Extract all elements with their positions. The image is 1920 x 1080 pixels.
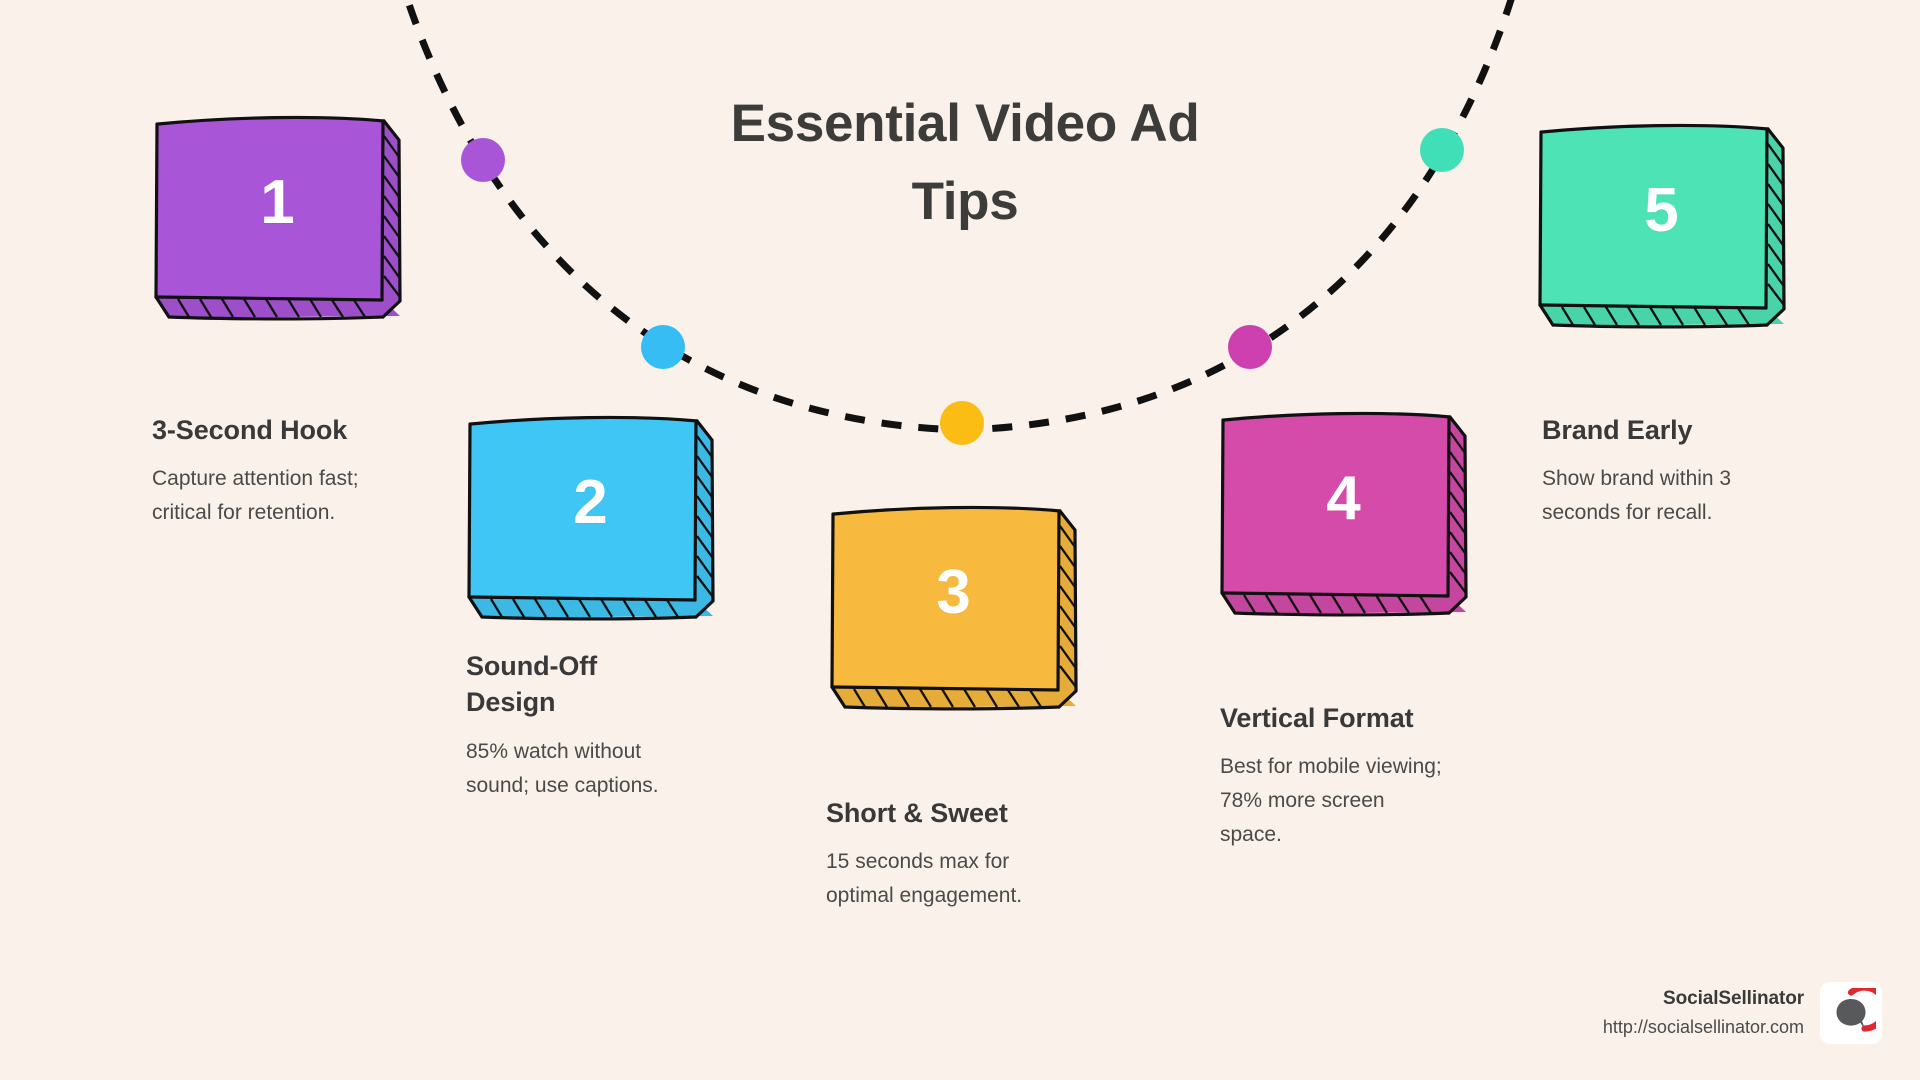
footer-text: SocialSellinator http://socialsellinator… — [1603, 985, 1804, 1041]
step-card-5[interactable]: 5 — [1534, 118, 1789, 333]
arc-dot-dot-1 — [461, 138, 505, 182]
step-text-5: Brand Early Show brand within 3 seconds … — [1542, 412, 1817, 530]
brand-url[interactable]: http://socialsellinator.com — [1603, 1014, 1804, 1041]
arc-dot-dot-2 — [641, 325, 685, 369]
step-heading-5: Brand Early — [1542, 412, 1817, 448]
footer-branding: SocialSellinator http://socialsellinator… — [1603, 982, 1882, 1044]
infographic-canvas: Essential Video Ad Tips — [0, 0, 1920, 1080]
socialsellinator-logo-icon — [1826, 988, 1876, 1038]
step-heading-4: Vertical Format — [1220, 700, 1495, 736]
page-title: Essential Video Ad Tips — [690, 85, 1240, 242]
step-heading-3: Short & Sweet — [826, 795, 1101, 831]
brand-name: SocialSellinator — [1603, 985, 1804, 1014]
step-description-2: 85% watch without sound; use captions. — [466, 735, 741, 803]
step-card-2[interactable]: 2 — [463, 410, 718, 625]
step-description-1: Capture attention fast; critical for ret… — [152, 462, 427, 530]
step-text-3: Short & Sweet 15 seconds max for optimal… — [826, 795, 1101, 913]
step-card-1[interactable]: 1 — [150, 110, 405, 325]
step-card-4[interactable]: 4 — [1216, 406, 1471, 621]
step-text-2: Sound-Off Design 85% watch without sound… — [466, 648, 741, 803]
arc-dot-dot-5 — [1420, 128, 1464, 172]
step-heading-1: 3-Second Hook — [152, 412, 427, 448]
step-number-3: 3 — [826, 562, 1081, 624]
arc-dot-dot-3 — [940, 401, 984, 445]
step-description-3: 15 seconds max for optimal engagement. — [826, 845, 1101, 913]
step-text-4: Vertical Format Best for mobile viewing;… — [1220, 700, 1495, 852]
step-number-1: 1 — [150, 172, 405, 234]
step-heading-2: Sound-Off Design — [466, 648, 741, 721]
brand-logo[interactable] — [1820, 982, 1882, 1044]
arc-dot-dot-4 — [1228, 325, 1272, 369]
step-description-4: Best for mobile viewing; 78% more screen… — [1220, 750, 1495, 852]
step-number-5: 5 — [1534, 180, 1789, 242]
step-text-1: 3-Second Hook Capture attention fast; cr… — [152, 412, 427, 530]
step-description-5: Show brand within 3 seconds for recall. — [1542, 462, 1817, 530]
step-number-2: 2 — [463, 472, 718, 534]
step-number-4: 4 — [1216, 468, 1471, 530]
step-card-3[interactable]: 3 — [826, 500, 1081, 715]
